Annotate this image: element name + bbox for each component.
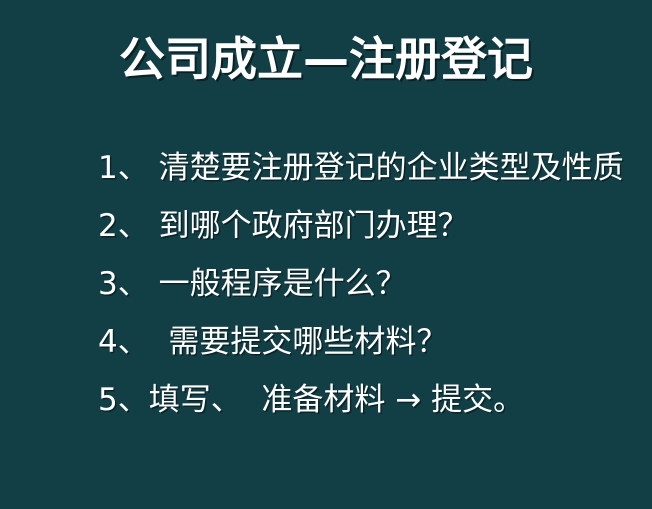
list-item: 5、填写、 准备材料 → 提交。: [98, 382, 638, 418]
page-title: 公司成立—注册登记: [119, 30, 533, 88]
list-item: 1、 清楚要注册登记的企业类型及性质: [98, 150, 638, 186]
list-item: 3、 一般程序是什么？: [98, 266, 638, 302]
list-item: 4、 需要提交哪些材料？: [98, 324, 638, 360]
presentation-slide: 公司成立—注册登记 1、 清楚要注册登记的企业类型及性质 2、 到哪个政府部门办…: [0, 0, 652, 509]
list-item: 2、 到哪个政府部门办理？: [98, 208, 638, 244]
slide-body-list: 1、 清楚要注册登记的企业类型及性质 2、 到哪个政府部门办理？ 3、 一般程序…: [98, 150, 638, 418]
slide-title-block: 公司成立—注册登记: [0, 30, 652, 88]
